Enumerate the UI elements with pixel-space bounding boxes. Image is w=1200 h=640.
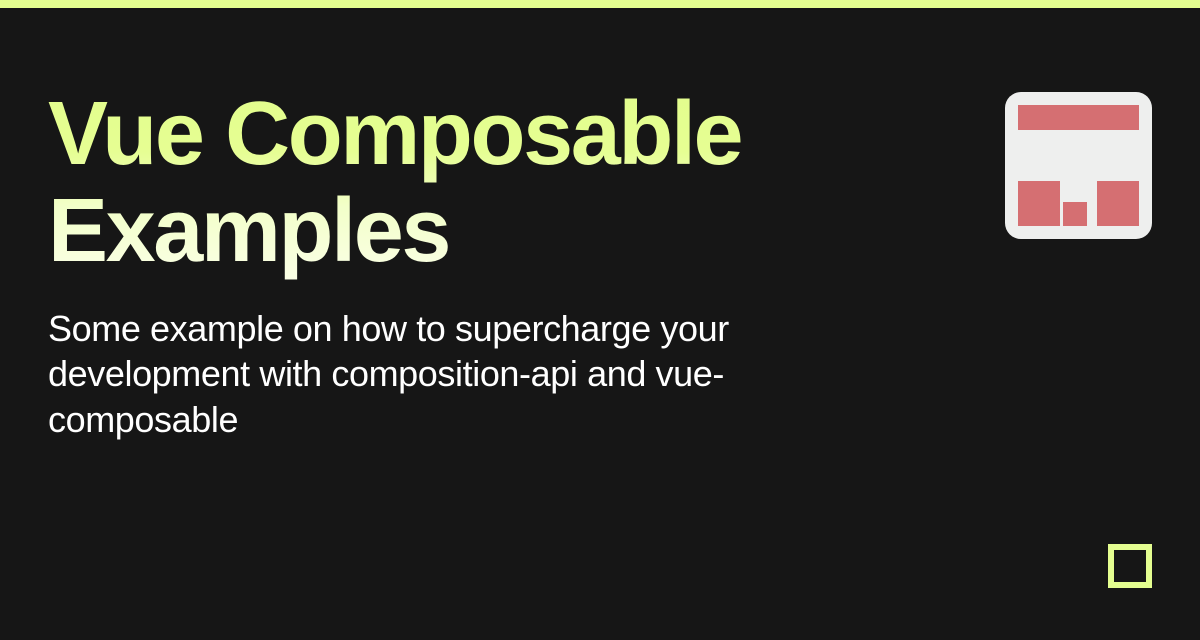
logo-block-middle <box>1063 202 1087 226</box>
hero-stage: Vue Composable Examples Some example on … <box>0 0 1200 640</box>
logo-top-bar-icon <box>1018 105 1139 130</box>
logo-block-left-stub <box>1018 202 1039 226</box>
page-title-text: Vue Composable Examples <box>48 86 908 280</box>
outlined-square-icon <box>1108 544 1152 588</box>
page-title: Vue Composable Examples <box>48 86 908 280</box>
logo-block-right-stub <box>1118 202 1139 226</box>
page-subtitle-text: Some example on how to supercharge your … <box>48 306 768 442</box>
page-subtitle: Some example on how to supercharge your … <box>48 306 768 442</box>
vue-composable-logo-icon <box>1005 92 1152 239</box>
